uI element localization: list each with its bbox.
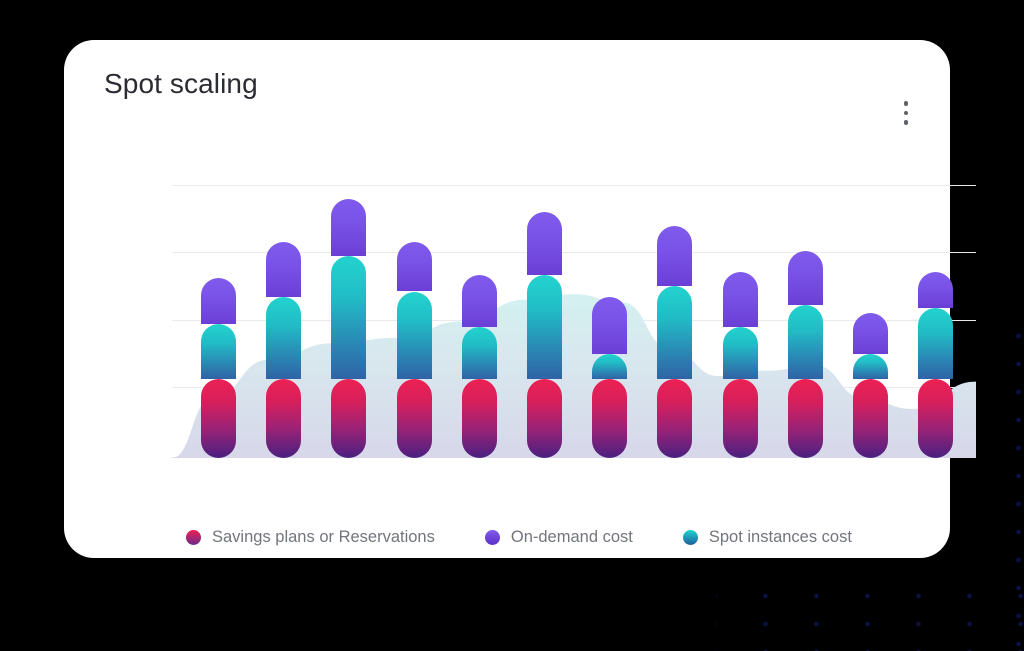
bar-segment-ondemand — [266, 242, 301, 297]
kebab-dot-1 — [904, 101, 909, 106]
bar-segment-ondemand — [723, 272, 758, 327]
decorative-dot-grid-right — [986, 318, 1024, 651]
bar-group-2[interactable] — [266, 185, 301, 458]
screen-root: Spot scaling Savings p — [0, 0, 1024, 651]
chart-bars — [172, 185, 976, 458]
bar-segment-savings — [853, 379, 888, 458]
bar-segment-savings — [527, 379, 562, 458]
bar-segment-ondemand — [527, 212, 562, 275]
bar-segment-spot — [331, 256, 366, 379]
bar-group-8[interactable] — [657, 185, 692, 458]
bar-segment-savings — [657, 379, 692, 458]
bar-segment-savings — [331, 379, 366, 458]
card-header: Spot scaling — [104, 68, 920, 128]
decorative-dot-grid-bottom — [716, 576, 1024, 651]
bar-group-12[interactable] — [918, 185, 953, 458]
bar-segment-savings — [788, 379, 823, 458]
bar-segment-savings — [201, 379, 236, 458]
bar-segment-ondemand — [592, 297, 627, 354]
bar-segment-spot — [918, 308, 953, 379]
legend-item-1[interactable]: On-demand cost — [485, 528, 633, 547]
kebab-dot-2 — [904, 111, 909, 116]
bar-segment-spot — [266, 297, 301, 379]
bar-segment-ondemand — [331, 199, 366, 256]
chart-plot-area — [172, 185, 976, 458]
legend-dot-savings-plans — [186, 530, 201, 545]
bar-segment-spot — [788, 305, 823, 379]
bar-segment-spot — [462, 327, 497, 379]
legend-label-0: Savings plans or Reservations — [212, 528, 435, 547]
legend-item-2[interactable]: Spot instances cost — [683, 528, 852, 547]
bar-segment-spot — [201, 324, 236, 379]
legend-label-1: On-demand cost — [511, 528, 633, 547]
bar-group-6[interactable] — [527, 185, 562, 458]
bar-group-5[interactable] — [462, 185, 497, 458]
bar-group-3[interactable] — [331, 185, 366, 458]
bar-segment-ondemand — [201, 278, 236, 324]
bar-segment-spot — [527, 275, 562, 379]
bar-segment-ondemand — [657, 226, 692, 286]
legend-dot-spot-instances — [683, 530, 698, 545]
bar-segment-ondemand — [918, 272, 953, 308]
bar-segment-savings — [266, 379, 301, 458]
bar-segment-spot — [397, 292, 432, 379]
legend-label-2: Spot instances cost — [709, 528, 852, 547]
bar-group-4[interactable] — [397, 185, 432, 458]
bar-segment-savings — [397, 379, 432, 458]
bar-group-10[interactable] — [788, 185, 823, 458]
bar-segment-savings — [592, 379, 627, 458]
bar-segment-ondemand — [788, 251, 823, 306]
page-title: Spot scaling — [104, 68, 258, 100]
bar-segment-spot — [723, 327, 758, 379]
bar-group-1[interactable] — [201, 185, 236, 458]
legend-dot-on-demand — [485, 530, 500, 545]
bar-segment-ondemand — [397, 242, 432, 291]
bar-segment-savings — [723, 379, 758, 458]
bar-segment-savings — [918, 379, 953, 458]
bar-segment-ondemand — [462, 275, 497, 327]
spot-scaling-card: Spot scaling Savings p — [64, 40, 950, 558]
kebab-menu-icon[interactable] — [895, 99, 917, 127]
kebab-dot-3 — [904, 120, 909, 125]
bar-group-11[interactable] — [853, 185, 888, 458]
bar-segment-spot — [853, 354, 888, 379]
bar-segment-spot — [657, 286, 692, 379]
bar-group-7[interactable] — [592, 185, 627, 458]
bar-segment-savings — [462, 379, 497, 458]
bar-group-9[interactable] — [723, 185, 758, 458]
legend-item-0[interactable]: Savings plans or Reservations — [186, 528, 435, 547]
bar-segment-spot — [592, 354, 627, 379]
chart-legend: Savings plans or ReservationsOn-demand c… — [186, 528, 852, 547]
bar-segment-ondemand — [853, 313, 888, 354]
